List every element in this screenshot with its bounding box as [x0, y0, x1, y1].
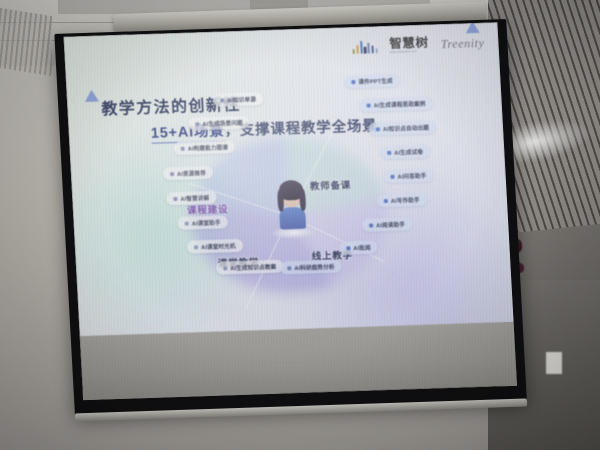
logo-bar	[353, 49, 355, 54]
read-icon	[369, 223, 373, 227]
doc-icon	[223, 266, 227, 270]
scenario-pill-label: AI课堂助手	[192, 218, 221, 227]
check-icon	[346, 246, 350, 250]
scenario-pill[interactable]: AI阅读助手	[362, 217, 413, 232]
avatar-hair-right	[299, 189, 306, 211]
scenario-pill-label: AI问答助手	[397, 171, 426, 180]
quiz-icon	[376, 127, 380, 131]
scenario-pill-label: AI智慧讲解	[180, 193, 209, 202]
scenario-pill[interactable]: AI知识点自动出题	[369, 120, 437, 135]
assistant-icon	[185, 221, 189, 225]
scenario-pill[interactable]: AI生成场景问题	[188, 116, 250, 131]
scenario-pill[interactable]: AI写作助手	[376, 193, 427, 208]
scenario-pill[interactable]: AI问答助手	[383, 168, 434, 183]
scenario-pill-label: AI批阅	[353, 243, 371, 252]
paper-icon	[387, 150, 391, 154]
scenario-pill[interactable]: AI课堂助手	[177, 215, 228, 230]
scenario-pill[interactable]: AI批阅	[339, 240, 378, 254]
bar-chart-logo-icon	[352, 40, 378, 54]
logo-bar	[360, 41, 363, 54]
scenario-pill-label: AI科研趋势分析	[294, 262, 335, 271]
scenario-pill[interactable]: AI知识单源	[213, 92, 264, 107]
triangle-accent-icon	[465, 22, 480, 33]
scenario-pill-label: AI构建能力图谱	[187, 143, 228, 152]
scenario-pill[interactable]: AI科研趋势分析	[280, 260, 342, 275]
book-icon	[220, 98, 224, 102]
scenario-pill-label: AI知识单源	[227, 95, 256, 104]
scenario-pill-label: AI知识点自动出题	[383, 123, 430, 133]
logo-bar	[364, 46, 367, 53]
logo-row: 智慧树 www.zhihuishu.com Treenity	[352, 35, 485, 56]
scenario-pill-label: AI写作助手	[391, 195, 420, 204]
brand-logo-zhihuishu: 智慧树 www.zhihuishu.com	[389, 37, 429, 55]
logo-bar	[371, 45, 374, 53]
scenario-pill-label: AI生成场景问题	[202, 118, 243, 127]
scenario-pill[interactable]: AI智慧讲解	[166, 191, 217, 206]
window-object	[546, 352, 562, 374]
logo-bar	[356, 45, 359, 54]
logo-bar	[367, 42, 370, 53]
scenario-pill-label: AI资源推荐	[177, 169, 206, 178]
scenario-pill[interactable]: AI生成知识点教案	[216, 259, 284, 274]
scenario-pill-label: AI阅读助手	[376, 220, 405, 229]
brand-logo-treenity: Treenity	[440, 36, 484, 52]
clock-icon	[194, 245, 198, 249]
classroom-photo: 智慧树 www.zhihuishu.com Treenity 教学方法的创新性 …	[0, 0, 600, 450]
qa-icon	[390, 174, 394, 178]
slide: 智慧树 www.zhihuishu.com Treenity 教学方法的创新性 …	[63, 22, 513, 336]
scenario-pill-label: AI生成知识点教案	[230, 262, 277, 272]
ai-avatar	[276, 183, 309, 238]
scenario-pill-label: AI生成试卷	[394, 147, 423, 156]
case-icon	[367, 103, 371, 107]
projection-screen: 智慧树 www.zhihuishu.com Treenity 教学方法的创新性 …	[54, 13, 527, 421]
pen-icon	[384, 198, 388, 202]
scenario-pill[interactable]: 课件PPT生成	[344, 74, 400, 89]
scenario-pill-label: 课件PPT生成	[358, 76, 393, 85]
scenario-pill[interactable]: AI生成课程思政案例	[359, 96, 433, 111]
scenario-pill[interactable]: AI生成试卷	[380, 145, 431, 160]
scenario-pill[interactable]: AI构建能力图谱	[173, 140, 235, 155]
scenario-pill[interactable]: AI资源推荐	[163, 166, 214, 181]
brand-url: www.zhihuishu.com	[390, 51, 429, 55]
brand-name-cn: 智慧树	[389, 36, 429, 51]
slide-icon	[351, 80, 355, 84]
scenario-pill-label: AI课堂时光机	[201, 242, 236, 251]
speaker-icon	[173, 196, 177, 200]
trend-icon	[287, 266, 291, 270]
scenario-pill-label: AI生成课程思政案例	[373, 99, 425, 109]
title-triangle-icon	[84, 90, 99, 102]
screen-surface: 智慧树 www.zhihuishu.com Treenity 教学方法的创新性 …	[63, 22, 517, 400]
scenario-pill[interactable]: AI课堂时光机	[187, 239, 243, 254]
star-icon	[170, 172, 174, 176]
logo-bar	[375, 48, 377, 53]
wall-vent	[0, 8, 52, 76]
chat-icon	[195, 122, 199, 126]
quadrant-label-teacher-prep: 教师备课	[310, 177, 352, 192]
graph-icon	[181, 146, 185, 150]
